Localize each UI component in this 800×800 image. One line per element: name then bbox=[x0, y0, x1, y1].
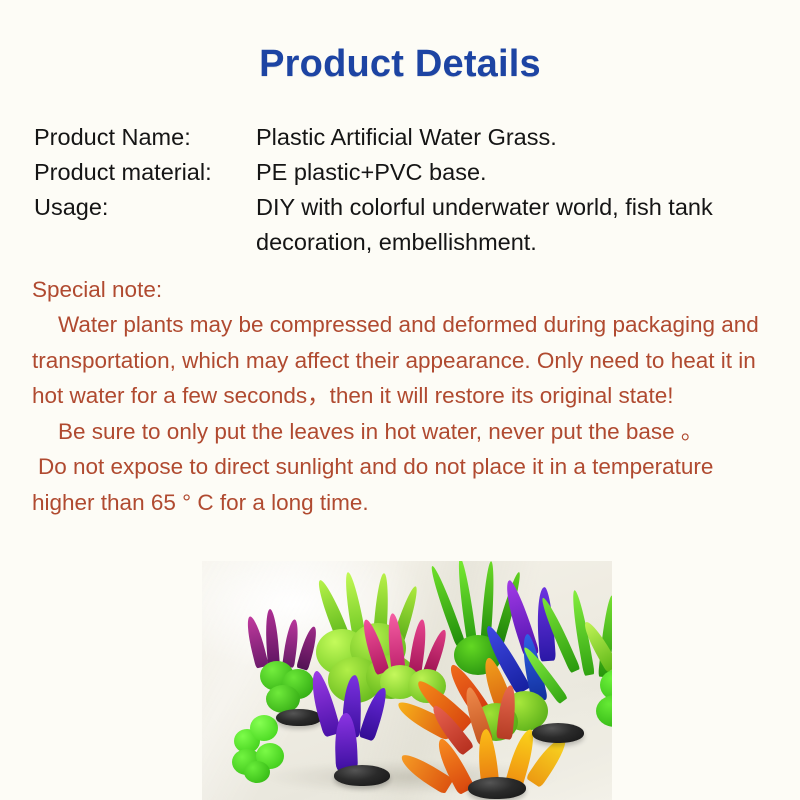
special-note-paragraph-1: Water plants may be compressed and defor… bbox=[32, 307, 782, 414]
product-spec-list: Product Name: Plastic Artificial Water G… bbox=[0, 120, 800, 260]
special-note-heading: Special note: bbox=[32, 272, 782, 308]
spec-row-usage: Usage: DIY with colorful underwater worl… bbox=[34, 190, 772, 260]
product-photo bbox=[202, 561, 612, 800]
plant-lime-fern-right bbox=[602, 605, 612, 725]
spec-label-usage: Usage: bbox=[34, 190, 256, 225]
spec-row-product-material: Product material: PE plastic+PVC base. bbox=[34, 155, 772, 190]
spec-row-product-name: Product Name: Plastic Artificial Water G… bbox=[34, 120, 772, 155]
spec-label-product-material: Product material: bbox=[34, 155, 256, 190]
plant-base-center-right bbox=[532, 723, 602, 753]
spec-label-product-name: Product Name: bbox=[34, 120, 256, 155]
spec-value-product-name: Plastic Artificial Water Grass. bbox=[256, 120, 772, 155]
plant-violet-fern bbox=[306, 669, 416, 799]
spec-value-usage: DIY with colorful underwater world, fish… bbox=[256, 190, 772, 260]
special-note-paragraph-3: Do not expose to direct sunlight and do … bbox=[32, 449, 782, 520]
page-title: Product Details bbox=[0, 0, 800, 86]
spec-value-product-material: PE plastic+PVC base. bbox=[256, 155, 772, 190]
special-note-paragraph-2: Be sure to only put the leaves in hot wa… bbox=[32, 414, 782, 450]
product-details-page: Product Details Product Name: Plastic Ar… bbox=[0, 0, 800, 800]
product-photo-backdrop bbox=[202, 561, 612, 800]
special-note-block: Special note: Water plants may be compre… bbox=[0, 272, 800, 521]
